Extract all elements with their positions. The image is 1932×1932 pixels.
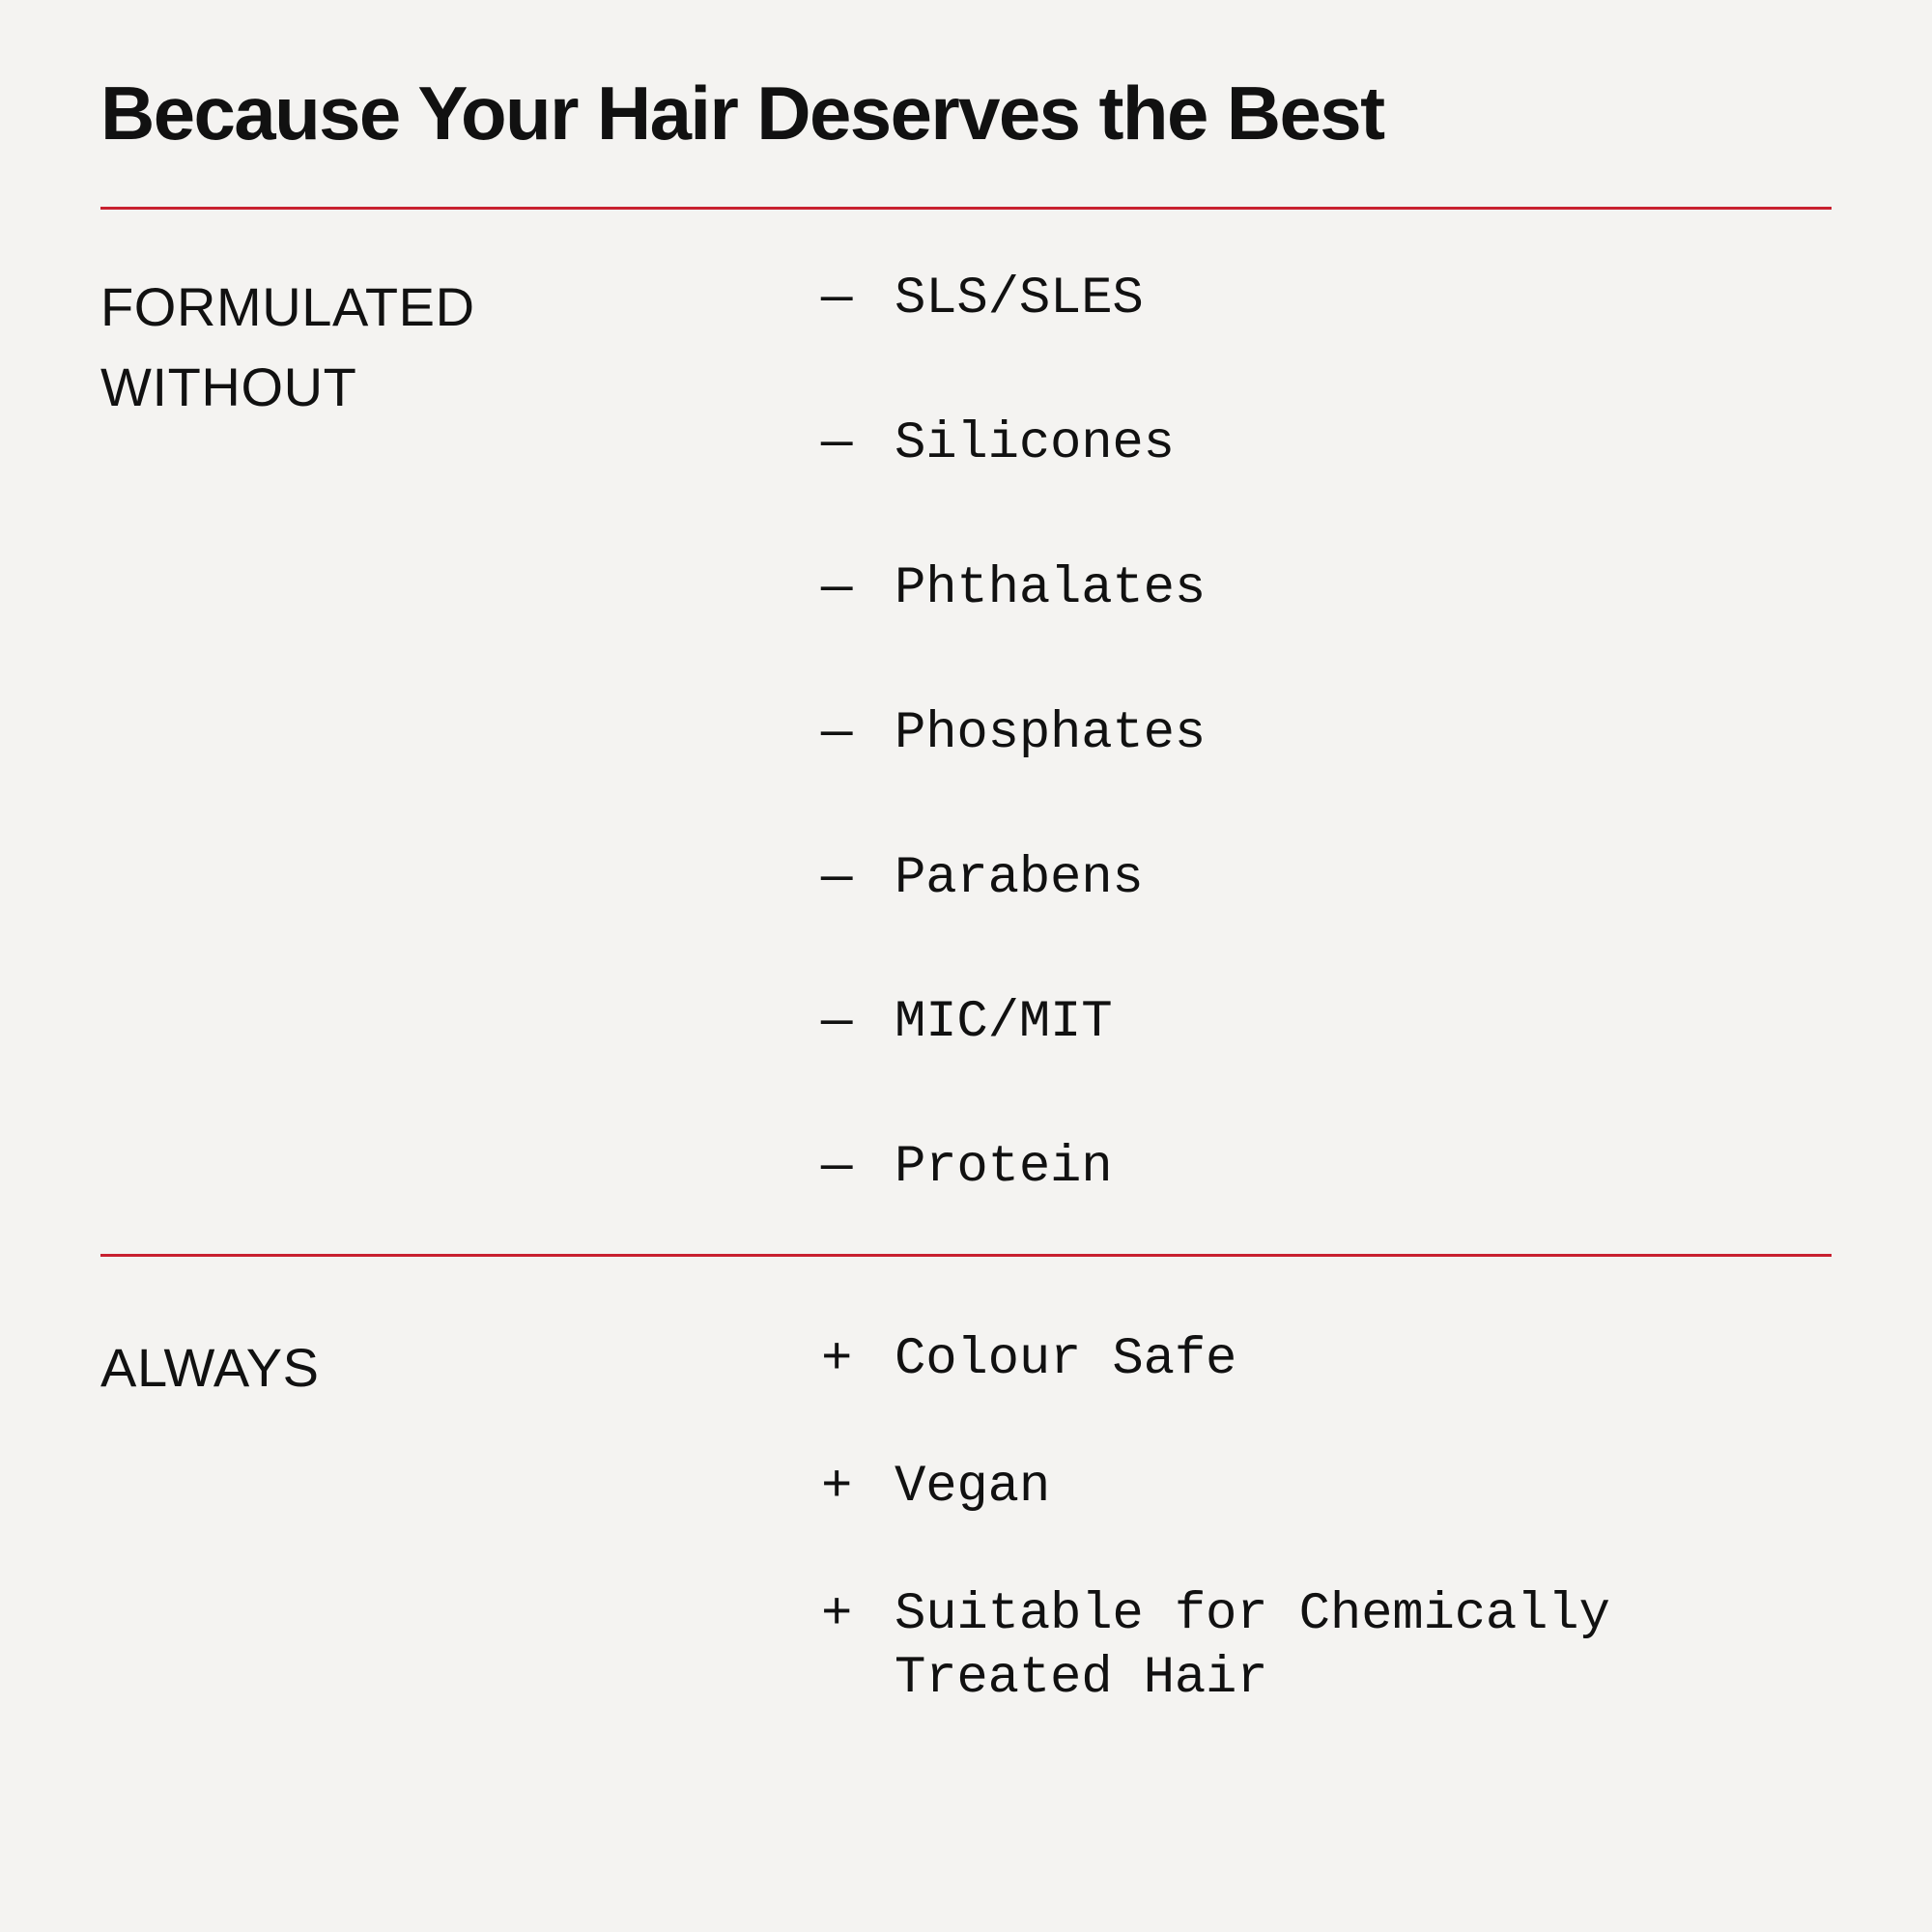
section-always: ALWAYS + Colour Safe + Vegan + Suitable … bbox=[100, 1257, 1832, 1711]
list-item: — Silicones bbox=[821, 412, 1832, 476]
list-item-label: Phosphates bbox=[895, 702, 1832, 766]
section-label-line-1: FORMULATED bbox=[100, 268, 821, 348]
list-item: — SLS/SLES bbox=[821, 268, 1832, 331]
list-item: + Colour Safe bbox=[821, 1328, 1832, 1392]
section-label-line-2: WITHOUT bbox=[100, 348, 821, 428]
dash-icon: — bbox=[821, 412, 895, 476]
list-item-label: Phthalates bbox=[895, 557, 1832, 621]
exclusion-list: — SLS/SLES — Silicones — Phthalates — Ph… bbox=[821, 268, 1832, 1200]
list-item-label: Vegan bbox=[895, 1456, 1832, 1520]
list-item-label: Protein bbox=[895, 1136, 1832, 1200]
inclusion-list: + Colour Safe + Vegan + Suitable for Che… bbox=[821, 1328, 1832, 1711]
list-item: — MIC/MIT bbox=[821, 991, 1832, 1055]
list-item-label: Suitable for Chemically Treated Hair bbox=[895, 1583, 1832, 1711]
page-title: Because Your Hair Deserves the Best bbox=[100, 0, 1832, 151]
product-claims-panel: Because Your Hair Deserves the Best FORM… bbox=[0, 0, 1932, 1932]
section-label-formulated-without: FORMULATED WITHOUT bbox=[100, 268, 821, 428]
list-item: + Suitable for Chemically Treated Hair bbox=[821, 1583, 1832, 1711]
list-item: — Parabens bbox=[821, 847, 1832, 911]
plus-icon: + bbox=[821, 1583, 895, 1647]
plus-icon: + bbox=[821, 1456, 895, 1520]
dash-icon: — bbox=[821, 268, 895, 331]
dash-icon: — bbox=[821, 991, 895, 1055]
list-item: — Phosphates bbox=[821, 702, 1832, 766]
list-item-label: Colour Safe bbox=[895, 1328, 1832, 1392]
list-item-label: MIC/MIT bbox=[895, 991, 1832, 1055]
list-item: — Protein bbox=[821, 1136, 1832, 1200]
section-label-line-1: ALWAYS bbox=[100, 1328, 821, 1408]
list-item-label: Silicones bbox=[895, 412, 1832, 476]
plus-icon: + bbox=[821, 1328, 895, 1392]
dash-icon: — bbox=[821, 557, 895, 621]
list-item: — Phthalates bbox=[821, 557, 1832, 621]
section-formulated-without: FORMULATED WITHOUT — SLS/SLES — Silicone… bbox=[100, 210, 1832, 1200]
list-item: + Vegan bbox=[821, 1456, 1832, 1520]
list-item-label: SLS/SLES bbox=[895, 268, 1832, 331]
dash-icon: — bbox=[821, 1136, 895, 1200]
section-label-always: ALWAYS bbox=[100, 1328, 821, 1408]
list-item-label: Parabens bbox=[895, 847, 1832, 911]
dash-icon: — bbox=[821, 847, 895, 911]
dash-icon: — bbox=[821, 702, 895, 766]
